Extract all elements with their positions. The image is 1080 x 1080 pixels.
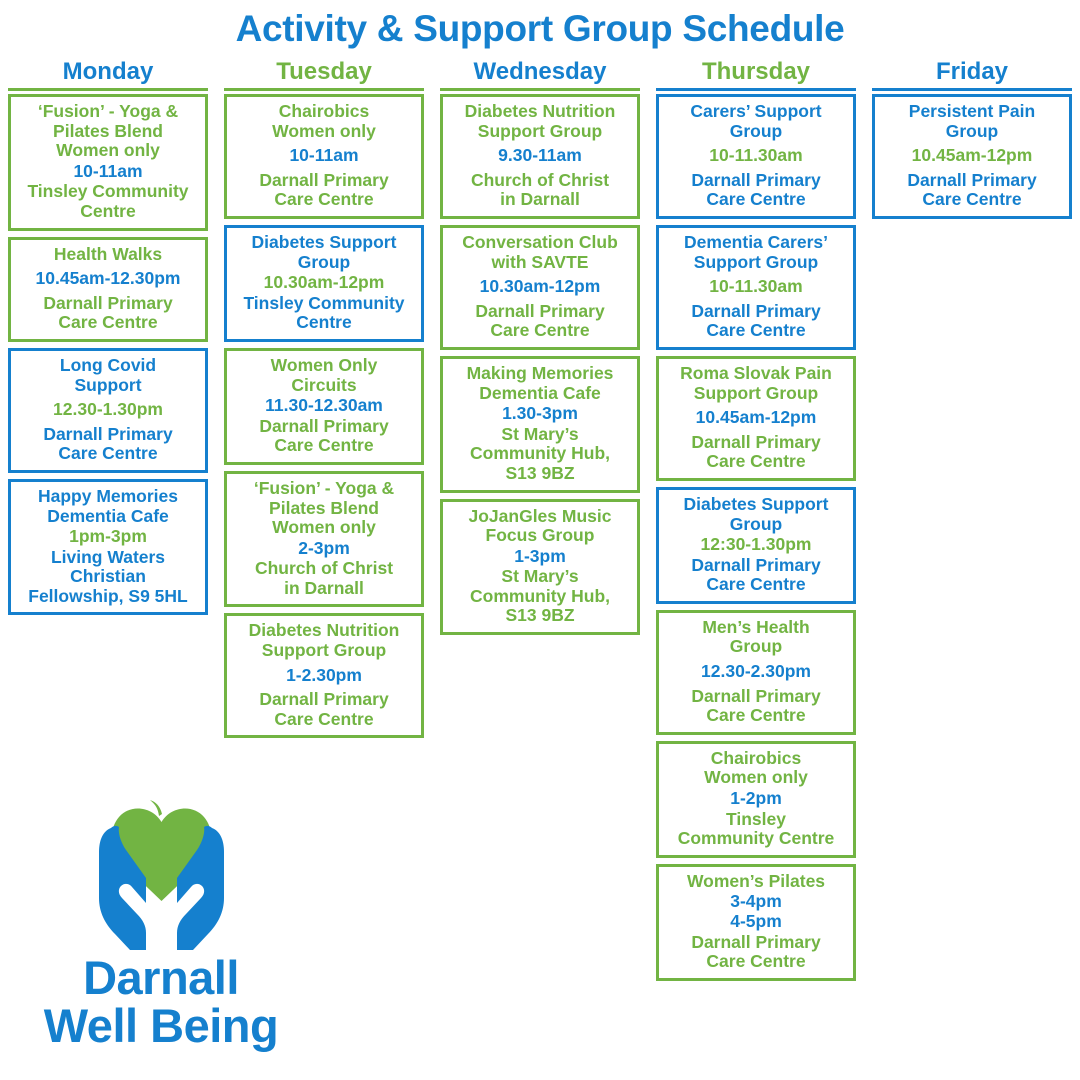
activity-card[interactable]: ChairobicsWomen only1-2pmTinsleyCommunit… (656, 741, 856, 858)
activity-venue: Darnall PrimaryCare Centre (230, 171, 418, 210)
activity-time: 1pm-3pm (14, 527, 202, 547)
activity-card[interactable]: Diabetes SupportGroup12:30-1.30pmDarnall… (656, 487, 856, 604)
activity-title: Diabetes SupportGroup (662, 495, 850, 534)
activity-venue: Darnall PrimaryCare Centre (230, 690, 418, 729)
activity-title: Diabetes NutritionSupport Group (446, 102, 634, 141)
activity-time: 10-11am (230, 146, 418, 166)
activity-venue: Darnall PrimaryCare Centre (230, 417, 418, 456)
activity-card[interactable]: Diabetes SupportGroup10.30am-12pmTinsley… (224, 225, 424, 342)
activity-title: Women’s Pilates (662, 872, 850, 892)
activity-venue: Darnall PrimaryCare Centre (14, 425, 202, 464)
activity-time: 1-3pm (446, 547, 634, 567)
activity-time: 10.45am-12.30pm (14, 269, 202, 289)
activity-time: 11.30-12.30am (230, 396, 418, 416)
heart-in-hands-icon (74, 800, 249, 952)
activity-title: ‘Fusion’ - Yoga &Pilates BlendWomen only (14, 102, 202, 161)
day-column-tuesday: TuesdayChairobicsWomen only10-11amDarnal… (216, 60, 432, 744)
activity-venue: Tinsley CommunityCentre (230, 294, 418, 333)
activity-card[interactable]: ‘Fusion’ - Yoga &Pilates BlendWomen only… (8, 94, 208, 231)
logo-line-1: Darnall (16, 954, 306, 1002)
brand-logo: Darnall Well Being (16, 800, 306, 1050)
activity-time: 10.30am-12pm (230, 273, 418, 293)
activity-card[interactable]: Diabetes NutritionSupport Group1-2.30pmD… (224, 613, 424, 738)
activity-venue: Darnall PrimaryCare Centre (662, 171, 850, 210)
activity-title: Diabetes NutritionSupport Group (230, 621, 418, 660)
activity-title: ‘Fusion’ - Yoga &Pilates BlendWomen only (230, 479, 418, 538)
activity-card[interactable]: ChairobicsWomen only10-11amDarnall Prima… (224, 94, 424, 219)
activity-title: Happy MemoriesDementia Cafe (14, 487, 202, 526)
activity-title: Roma Slovak PainSupport Group (662, 364, 850, 403)
day-header-thursday: Thursday (656, 60, 856, 91)
activity-venue: Darnall PrimaryCare Centre (662, 433, 850, 472)
activity-card[interactable]: Persistent PainGroup10.45am-12pmDarnall … (872, 94, 1072, 219)
activity-venue: Darnall PrimaryCare Centre (14, 294, 202, 333)
activity-card[interactable]: Conversation Clubwith SAVTE10.30am-12pmD… (440, 225, 640, 350)
activity-venue: Darnall PrimaryCare Centre (662, 302, 850, 341)
activity-venue: TinsleyCommunity Centre (662, 810, 850, 849)
activity-card[interactable]: ‘Fusion’ - Yoga &Pilates BlendWomen only… (224, 471, 424, 608)
activity-time: 2-3pm (230, 539, 418, 559)
activity-time: 12:30-1.30pm (662, 535, 850, 555)
day-column-wednesday: WednesdayDiabetes NutritionSupport Group… (432, 60, 648, 641)
activity-venue: Living WatersChristianFellowship, S9 5HL (14, 548, 202, 607)
activity-time: 10-11am (14, 162, 202, 182)
activity-venue: St Mary’sCommunity Hub,S13 9BZ (446, 567, 634, 626)
day-column-monday: Monday‘Fusion’ - Yoga &Pilates BlendWome… (0, 60, 216, 621)
activity-venue: Darnall PrimaryCare Centre (662, 933, 850, 972)
day-header-friday: Friday (872, 60, 1072, 91)
activity-card[interactable]: JoJanGles MusicFocus Group1-3pmSt Mary’s… (440, 499, 640, 636)
activity-time: 10-11.30am (662, 146, 850, 166)
activity-title: Dementia Carers’Support Group (662, 233, 850, 272)
activity-card[interactable]: Health Walks10.45am-12.30pmDarnall Prima… (8, 237, 208, 342)
day-header-tuesday: Tuesday (224, 60, 424, 91)
activity-time: 9.30-11am (446, 146, 634, 166)
activity-title: Making MemoriesDementia Cafe (446, 364, 634, 403)
activity-card[interactable]: Happy MemoriesDementia Cafe1pm-3pmLiving… (8, 479, 208, 616)
day-header-wednesday: Wednesday (440, 60, 640, 91)
activity-title: Women OnlyCircuits (230, 356, 418, 395)
day-column-friday: FridayPersistent PainGroup10.45am-12pmDa… (864, 60, 1080, 225)
logo-line-2: Well Being (16, 1002, 306, 1050)
activity-venue: Darnall PrimaryCare Centre (446, 302, 634, 341)
activity-title: ChairobicsWomen only (230, 102, 418, 141)
activity-card[interactable]: Long CovidSupport12.30-1.30pmDarnall Pri… (8, 348, 208, 473)
activity-venue: Tinsley CommunityCentre (14, 182, 202, 221)
activity-title: JoJanGles MusicFocus Group (446, 507, 634, 546)
activity-card[interactable]: Roma Slovak PainSupport Group10.45am-12p… (656, 356, 856, 481)
activity-time: 12.30-2.30pm (662, 662, 850, 682)
activity-title: Men’s HealthGroup (662, 618, 850, 657)
activity-venue: St Mary’sCommunity Hub,S13 9BZ (446, 425, 634, 484)
activity-card[interactable]: Making MemoriesDementia Cafe1.30-3pmSt M… (440, 356, 640, 493)
activity-time: 1.30-3pm (446, 404, 634, 424)
page-title: Activity & Support Group Schedule (0, 0, 1080, 49)
activity-card[interactable]: Women OnlyCircuits11.30-12.30amDarnall P… (224, 348, 424, 465)
activity-title: Carers’ SupportGroup (662, 102, 850, 141)
activity-time: 10.45am-12pm (662, 408, 850, 428)
activity-card[interactable]: Dementia Carers’Support Group10-11.30amD… (656, 225, 856, 350)
activity-time: 10.30am-12pm (446, 277, 634, 297)
activity-time: 3-4pm4-5pm (662, 892, 850, 931)
activity-time: 1-2.30pm (230, 666, 418, 686)
activity-title: Conversation Clubwith SAVTE (446, 233, 634, 272)
activity-title: ChairobicsWomen only (662, 749, 850, 788)
activity-time: 10.45am-12pm (878, 146, 1066, 166)
day-column-thursday: ThursdayCarers’ SupportGroup10-11.30amDa… (648, 60, 864, 987)
activity-card[interactable]: Women’s Pilates3-4pm4-5pmDarnall Primary… (656, 864, 856, 981)
schedule-poster: Activity & Support Group Schedule Monday… (0, 0, 1080, 1080)
activity-title: Persistent PainGroup (878, 102, 1066, 141)
activity-venue: Darnall PrimaryCare Centre (662, 556, 850, 595)
activity-venue: Darnall PrimaryCare Centre (878, 171, 1066, 210)
activity-time: 10-11.30am (662, 277, 850, 297)
activity-card[interactable]: Men’s HealthGroup12.30-2.30pmDarnall Pri… (656, 610, 856, 735)
activity-venue: Church of Christin Darnall (230, 559, 418, 598)
day-header-monday: Monday (8, 60, 208, 91)
activity-card[interactable]: Diabetes NutritionSupport Group9.30-11am… (440, 94, 640, 219)
activity-title: Diabetes SupportGroup (230, 233, 418, 272)
activity-time: 12.30-1.30pm (14, 400, 202, 420)
activity-card[interactable]: Carers’ SupportGroup10-11.30amDarnall Pr… (656, 94, 856, 219)
activity-title: Health Walks (14, 245, 202, 265)
activity-venue: Church of Christin Darnall (446, 171, 634, 210)
activity-title: Long CovidSupport (14, 356, 202, 395)
activity-venue: Darnall PrimaryCare Centre (662, 687, 850, 726)
activity-time: 1-2pm (662, 789, 850, 809)
